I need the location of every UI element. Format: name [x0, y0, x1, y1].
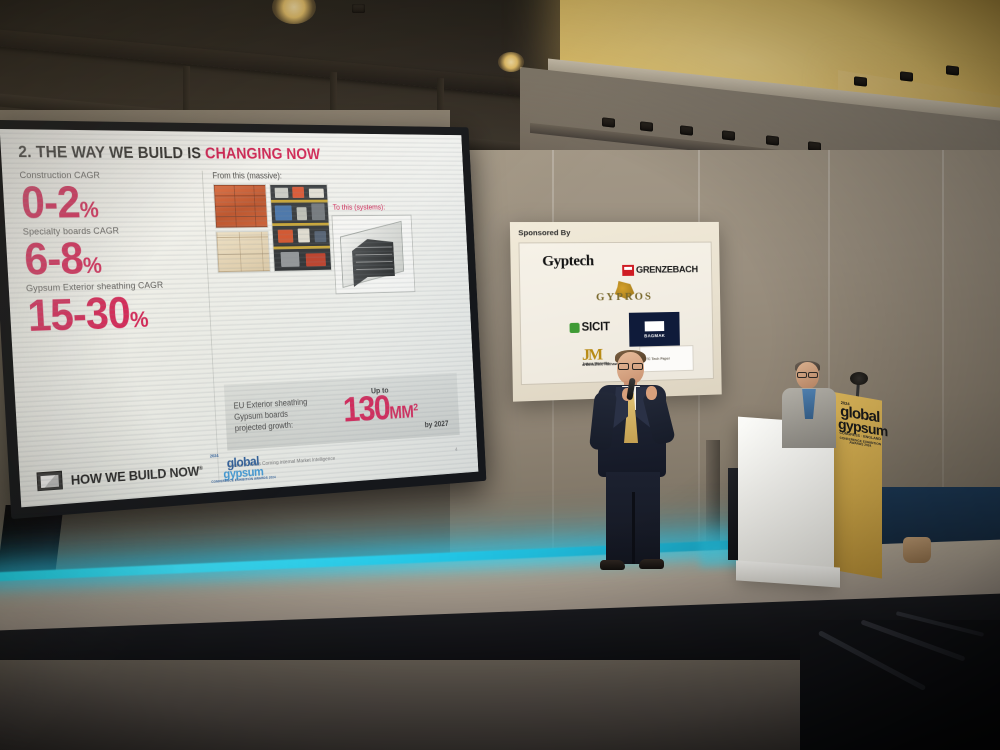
- screen-bezel: 2. THE WAY WE BUILD IS CHANGING NOW Cons…: [0, 120, 486, 519]
- metric-number: 15-30: [26, 288, 131, 341]
- shelf-item: [314, 231, 326, 242]
- grenzebach-logo: GRENZEBACH: [622, 264, 698, 276]
- podium-person: [780, 362, 840, 452]
- recessed-spotlight-icon: [352, 4, 365, 13]
- metrics-column: Construction CAGR 0-2% Specialty boards …: [19, 170, 218, 497]
- shelf-item: [275, 205, 293, 220]
- recessed-spotlight-icon: [602, 117, 615, 127]
- sicit-logo: SICIT: [569, 321, 609, 334]
- shelf-item: [306, 253, 326, 266]
- callout-number: 130: [342, 388, 390, 429]
- callout-exponent: 2: [413, 402, 418, 413]
- trademark-symbol: ®: [199, 466, 203, 472]
- recessed-spotlight-icon: [946, 65, 959, 75]
- gyptech-logo: Gyptech: [542, 253, 594, 271]
- shelf-item: [309, 189, 324, 198]
- owens-corning-logo-icon: [36, 471, 62, 492]
- metric-value: 6-8%: [23, 236, 202, 282]
- recessed-spotlight-icon: [640, 121, 653, 131]
- bag-on-stage: [903, 537, 931, 563]
- recessed-spotlight-icon: [900, 71, 913, 81]
- brick-wall-photo: [213, 184, 268, 229]
- from-this-label: From this (massive):: [212, 171, 451, 181]
- sponsored-by-heading: Sponsored By: [518, 228, 711, 237]
- microphone-icon: [850, 372, 868, 385]
- shelf-rail: [271, 200, 328, 203]
- shelf-item: [298, 228, 310, 242]
- bagmak-logo: BAGMAK: [629, 312, 680, 347]
- bagmak-mark-icon: [645, 321, 665, 331]
- metric-gypsum-exterior-cagr: Gypsum Exterior sheathing CAGR 15-30%: [26, 279, 206, 338]
- recessed-spotlight-icon: [680, 125, 693, 135]
- recessed-spotlight-icon: [722, 130, 735, 140]
- sicit-text: SICIT: [581, 321, 609, 334]
- shelf-item: [278, 230, 294, 243]
- speaker-leg-gap: [632, 492, 635, 564]
- slide-title-highlight: CHANGING NOW: [205, 145, 321, 163]
- callout-unit-text: MM: [389, 402, 414, 422]
- growth-callout-box: EU Exterior sheathing Gypsum boards proj…: [224, 373, 460, 451]
- metric-unit: %: [129, 307, 149, 333]
- slide-columns: Construction CAGR 0-2% Specialty boards …: [19, 170, 466, 497]
- metric-unit: %: [79, 197, 99, 223]
- metric-construction-cagr: Construction CAGR 0-2%: [19, 170, 199, 225]
- audience-chairs: [800, 620, 1000, 750]
- shelf-item: [292, 187, 304, 198]
- callout-unit: MM2: [389, 402, 418, 423]
- shelf-rail: [274, 246, 330, 250]
- glasses-icon: [797, 372, 818, 376]
- bagmak-text: BAGMAK: [644, 332, 665, 337]
- photo-stack-left: [213, 184, 271, 273]
- speaker-shoe-right: [639, 559, 664, 569]
- metric-value: 15-30%: [26, 290, 205, 338]
- global-gypsum-logo: 2024 global gypsum CONFERENCE EXHIBITION…: [210, 450, 276, 484]
- owens-corning-mark: [40, 474, 59, 487]
- metric-unit: %: [82, 252, 102, 278]
- glasses-icon: [618, 363, 643, 368]
- callout-number-group: 130MM2: [342, 387, 418, 429]
- metric-number: 0-2: [20, 177, 81, 228]
- slide-page-number: 4: [455, 447, 458, 452]
- to-this-label: To this (systems):: [332, 202, 385, 211]
- shelf-item: [281, 252, 300, 267]
- visuals-column: From this (massive): To this (systems):: [202, 171, 466, 484]
- speaker-hand-right: [646, 386, 657, 400]
- shelf-item: [311, 203, 325, 220]
- sicit-mark-icon: [570, 323, 580, 333]
- speaker-shoe-left: [600, 560, 625, 570]
- grenzebach-text: GRENZEBACH: [636, 264, 698, 276]
- screen-surface: 2. THE WAY WE BUILD IS CHANGING NOW Cons…: [0, 129, 478, 507]
- conference-stage-photo: 2. THE WAY WE BUILD IS CHANGING NOW Cons…: [0, 0, 1000, 750]
- downlight-glow: [498, 52, 524, 72]
- warehouse-shelving-photo: [269, 184, 332, 272]
- callout-figure: Up to 130MM2 by 2027: [307, 382, 452, 437]
- recessed-spotlight-icon: [766, 135, 779, 145]
- shelf-rail: [272, 223, 329, 226]
- sandstone-block-photo: [215, 231, 270, 273]
- shelf-item: [296, 207, 307, 220]
- metric-number: 6-8: [23, 233, 84, 284]
- tagline-text: HOW WE BUILD NOW: [70, 463, 199, 488]
- metric-value: 0-2%: [20, 181, 199, 225]
- main-speaker: [586, 352, 680, 584]
- slide-title: 2. THE WAY WE BUILD IS CHANGING NOW: [18, 143, 451, 164]
- metric-specialty-boards-cagr: Specialty boards CAGR 6-8%: [23, 225, 203, 282]
- gypros-logo: GYPROS: [596, 291, 653, 304]
- presentation-slide: 2. THE WAY WE BUILD IS CHANGING NOW Cons…: [0, 129, 478, 507]
- grenzebach-mark-icon: [622, 265, 634, 276]
- slide-title-plain: 2. THE WAY WE BUILD IS: [18, 143, 206, 162]
- projection-screen[interactable]: 2. THE WAY WE BUILD IS CHANGING NOW Cons…: [0, 120, 486, 519]
- wall-system-diagram: [332, 215, 416, 295]
- shelf-item: [275, 188, 289, 198]
- how-we-build-now-tagline: HOW WE BUILD NOW®: [70, 462, 203, 487]
- recessed-spotlight-icon: [854, 76, 867, 86]
- callout-description: EU Exterior sheathing Gypsum boards proj…: [233, 396, 309, 434]
- podium-global-gypsum-logo: 2024 global gypsum CONGRESS · ENGLAND CO…: [838, 400, 883, 449]
